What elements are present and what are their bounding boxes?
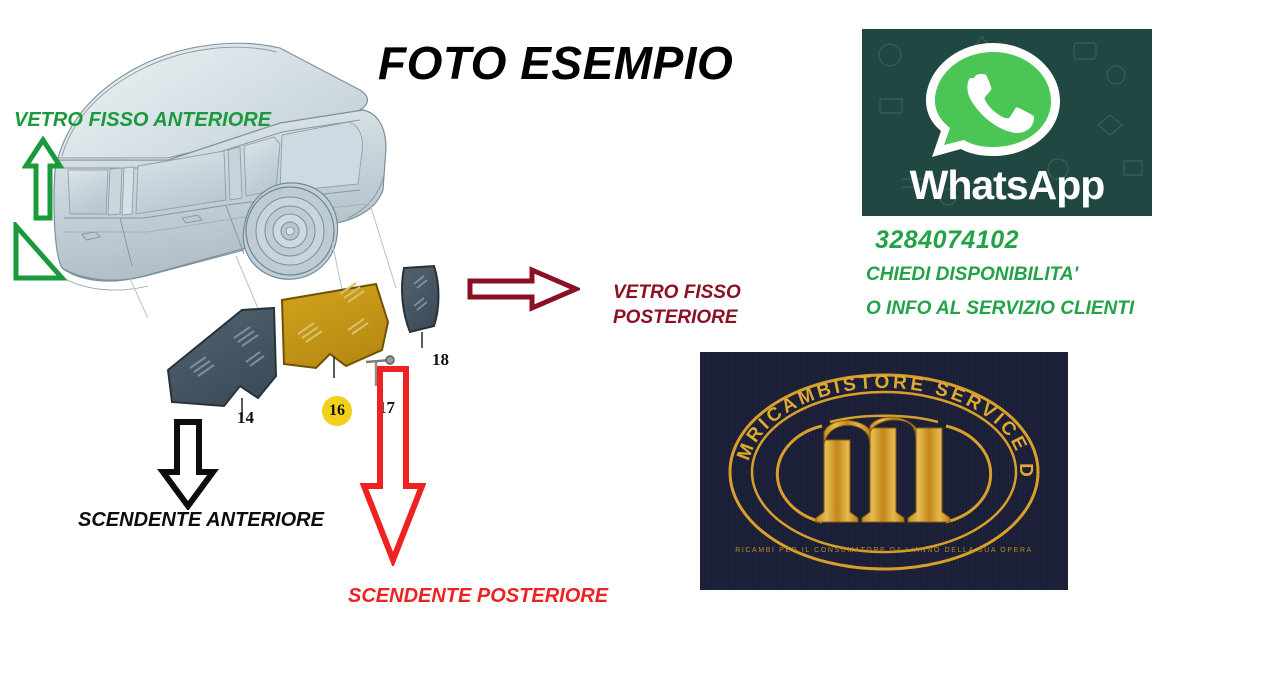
shop-logo-footer-text: RICAMBI PER IL CONSUMATORE DA L'ANNO DEL…	[735, 547, 1033, 554]
whatsapp-banner: WhatsApp	[862, 29, 1152, 216]
darkred-right-arrow-icon	[466, 265, 580, 313]
black-down-arrow-icon	[157, 418, 219, 510]
label-scendente-anteriore: SCENDENTE ANTERIORE	[78, 509, 324, 532]
label-vetro-fisso-posteriore: VETRO FISSO POSTERIORE	[613, 280, 783, 330]
label-vetro-fisso-posteriore-line2: POSTERIORE	[613, 305, 783, 330]
part-16-shape	[282, 283, 388, 378]
whatsapp-wordmark: WhatsApp	[862, 162, 1152, 209]
shop-logo-graphic: MRICAMBISTORE SERVICE DI RUSSO MARCO RIC…	[700, 352, 1068, 590]
label-scendente-posteriore: SCENDENTE POSTERIORE	[348, 585, 608, 608]
contact-line-2: O INFO AL SERVIZIO CLIENTI	[866, 298, 1134, 320]
phone-number[interactable]: 3284074102	[875, 226, 1019, 255]
part-number-16-badge: 16	[322, 396, 352, 426]
part-18-shape	[402, 266, 439, 348]
part-number-14: 14	[237, 408, 254, 428]
page-title: FOTO ESEMPIO	[378, 36, 733, 90]
green-up-arrow-icon	[22, 136, 64, 222]
red-down-arrow-icon	[358, 366, 428, 566]
whatsapp-icon	[918, 37, 1068, 161]
screenshot-canvas: 14 16 17 18 FOTO ESEMPIO VETRO FISSO ANT…	[0, 0, 1264, 678]
contact-line-1: CHIEDI DISPONIBILITA'	[866, 264, 1078, 286]
part-number-18: 18	[432, 350, 449, 370]
label-vetro-fisso-anteriore: VETRO FISSO ANTERIORE	[14, 109, 271, 132]
shop-logo: MRICAMBISTORE SERVICE DI RUSSO MARCO RIC…	[700, 352, 1068, 590]
part-14-shape	[168, 308, 276, 418]
label-vetro-fisso-posteriore-line1: VETRO FISSO	[613, 280, 783, 305]
green-triangle-icon	[8, 222, 68, 284]
